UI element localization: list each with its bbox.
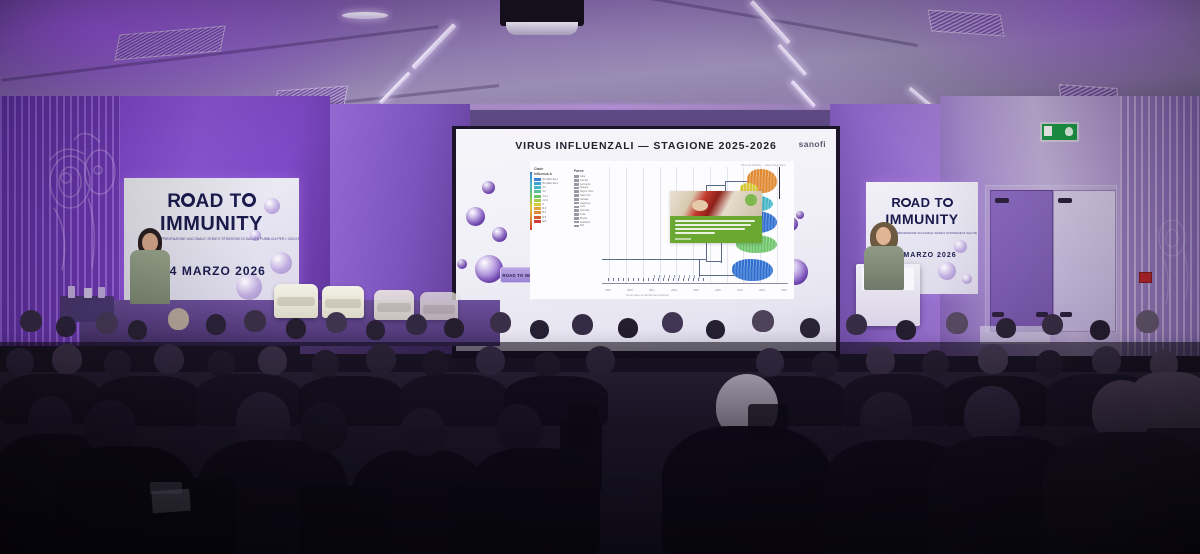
tree-branch xyxy=(725,181,747,182)
news-card-text-line xyxy=(675,228,745,230)
sanofi-logo: sanofi xyxy=(799,139,826,149)
audience-head xyxy=(490,312,511,333)
chart-gridline xyxy=(626,167,627,283)
legend-item: J.2.1 xyxy=(534,194,560,197)
clade-cluster-J1 xyxy=(732,259,773,281)
legend2-item: Spagna xyxy=(574,186,596,189)
legend-label: J.1 xyxy=(542,186,545,189)
audience-head xyxy=(530,320,549,339)
audience-head xyxy=(56,316,76,337)
audience-head xyxy=(366,344,396,374)
audience-head xyxy=(244,310,266,332)
audience-head xyxy=(128,320,147,340)
audience-head xyxy=(812,352,838,378)
legend-swatch xyxy=(534,203,541,206)
audience-head xyxy=(800,318,820,338)
legend-label: J.2.2 xyxy=(542,199,548,202)
tree-branch xyxy=(706,261,721,262)
right-wall-relief-artwork xyxy=(1150,200,1198,310)
audience-head xyxy=(406,314,427,335)
legend2-label: Canada xyxy=(580,198,588,201)
audience-head xyxy=(866,346,895,375)
ring-o-icon xyxy=(901,198,911,208)
audience-head xyxy=(1136,310,1159,333)
legend2-title: Paese xyxy=(574,169,596,174)
audience-head xyxy=(922,350,949,377)
tree-tip-dots xyxy=(654,275,702,278)
audience-head xyxy=(846,314,867,335)
legend-swatch xyxy=(534,211,541,214)
audience-head xyxy=(6,348,34,376)
chart-legend-countries: Paese Italia Francia Germania Spagna Reg… xyxy=(574,169,596,228)
tree-branch xyxy=(706,185,725,186)
news-card-body xyxy=(670,216,762,243)
audience-head xyxy=(206,314,226,335)
clade-marker-bar xyxy=(779,167,781,199)
news-card-text-line xyxy=(675,220,755,222)
legend-label: D.5 xyxy=(542,216,546,219)
legend2-item: Brasile xyxy=(574,217,596,220)
tree-branch-root xyxy=(602,259,706,260)
legend-item: D.5 xyxy=(534,215,560,218)
legend-label: J.2 xyxy=(542,190,545,193)
speaker-head xyxy=(876,227,891,245)
audience-head xyxy=(996,318,1016,338)
legend2-label: Stati Uniti xyxy=(580,194,590,197)
legend2-item: Sudafrica xyxy=(574,220,596,223)
legend-label: K xyxy=(542,203,544,206)
x-tick-label: 2017 xyxy=(649,289,655,292)
audience-head xyxy=(208,350,235,377)
legend2-swatch xyxy=(574,183,579,186)
legend-item: K xyxy=(534,203,560,206)
legend2-swatch xyxy=(574,202,579,205)
news-card-text-line xyxy=(675,232,715,234)
legend2-label: Cina xyxy=(580,205,585,208)
legend-swatch xyxy=(534,207,541,210)
legend2-swatch xyxy=(574,209,579,212)
x-tick-label: 2021 xyxy=(737,289,743,292)
audience-head xyxy=(978,344,1008,374)
water-bottle xyxy=(98,287,105,298)
audience-head xyxy=(422,350,449,377)
x-tick-label: 2020 xyxy=(715,289,721,292)
legend-label: D.4 xyxy=(542,211,546,214)
audience-head xyxy=(1042,314,1063,335)
news-card-text-line xyxy=(675,224,751,226)
speaker-body xyxy=(130,250,170,304)
x-tick-label: 2019 xyxy=(693,289,699,292)
seat-back xyxy=(452,484,544,554)
podium-speaker xyxy=(862,222,906,286)
audience-head xyxy=(312,350,339,378)
tree-branch xyxy=(699,259,700,275)
legend-swatch xyxy=(534,220,541,223)
audience-head xyxy=(896,320,916,340)
chart-x-axis-caption: Tempo (anno di raccolta del campione) xyxy=(626,294,669,297)
legend2-swatch xyxy=(574,198,579,201)
legend2-swatch xyxy=(574,190,579,193)
legend-label: D.3 xyxy=(542,207,546,210)
audience-head xyxy=(706,320,725,339)
legend-swatch xyxy=(534,216,541,219)
legend2-swatch xyxy=(574,187,579,190)
banner-bubble xyxy=(962,274,972,284)
legend2-swatch xyxy=(574,179,579,182)
audience-head xyxy=(534,352,560,378)
x-tick-label: 2018 xyxy=(671,289,677,292)
decorative-sphere xyxy=(475,255,503,283)
legend2-item: Altri xyxy=(574,224,596,227)
audience-head xyxy=(662,312,683,333)
audience-silhouette xyxy=(662,426,832,554)
audience-head xyxy=(476,346,505,375)
legend2-label: Italia xyxy=(580,175,585,178)
legend2-item: Germania xyxy=(574,183,596,186)
audience-head xyxy=(946,312,968,334)
legend2-item: Francia xyxy=(574,179,596,182)
x-tick-label: 2022 xyxy=(759,289,765,292)
legend-item: J.1 xyxy=(534,186,560,189)
legend2-label: Brasile xyxy=(580,217,587,220)
slide-title: VIRUS INFLUENZALI — STAGIONE 2025-2026 xyxy=(456,140,836,152)
legend-label: altri xyxy=(542,220,546,223)
legend2-item: Giappone xyxy=(574,202,596,205)
ring-o-icon xyxy=(943,198,953,208)
x-tick-label: 2015 xyxy=(605,289,611,292)
legend-swatch xyxy=(534,186,541,189)
legend2-swatch xyxy=(574,213,579,216)
photo-person xyxy=(692,200,708,211)
legend2-label: India xyxy=(580,213,585,216)
chart-gridline xyxy=(660,167,661,283)
x-tick-label: 2016 xyxy=(627,289,633,292)
banner-left-title-text: R xyxy=(167,191,181,212)
legend-swatch xyxy=(534,199,541,202)
audience-head xyxy=(96,312,118,334)
legend2-swatch xyxy=(574,217,579,220)
legend2-swatch xyxy=(574,221,579,224)
legend-item: 3C.2a1b.2a.2 xyxy=(534,182,560,185)
decorative-sphere xyxy=(482,181,495,194)
emergency-exit-icon xyxy=(1040,122,1079,142)
chart-gridline xyxy=(643,167,644,283)
seat-back xyxy=(748,404,788,444)
legend2-label: Francia xyxy=(580,179,588,182)
phylogenetic-tree-chart: Influenza A/H3N2 — albero filogenetico C… xyxy=(530,161,794,299)
legend-swatch xyxy=(534,190,541,193)
legend2-item: Italia xyxy=(574,175,596,178)
ring-o-icon xyxy=(181,193,195,207)
audience-head xyxy=(618,318,638,338)
news-card xyxy=(670,191,762,243)
audience-head xyxy=(286,318,306,339)
audience-head xyxy=(444,318,464,338)
decorative-sphere xyxy=(466,207,485,226)
water-bottle xyxy=(68,286,75,298)
legend2-label: Germania xyxy=(580,183,591,186)
legend2-label: Spagna xyxy=(580,186,588,189)
audience-head-front xyxy=(400,408,446,456)
legend2-item: Canada xyxy=(574,198,596,201)
banner-right-title-line1: RAD T xyxy=(866,196,978,209)
legend2-item: Australia xyxy=(574,209,596,212)
chart-x-axis xyxy=(602,283,788,284)
audience-head xyxy=(258,346,287,375)
speaker-body xyxy=(864,246,904,290)
legend-title: CladeInfluenza A xyxy=(534,167,560,176)
audience-head xyxy=(104,350,131,377)
legend2-swatch xyxy=(574,194,579,197)
seat-back xyxy=(300,486,390,554)
legend2-item: India xyxy=(574,213,596,216)
decorative-sphere xyxy=(457,259,467,269)
banner-right-title-text: R xyxy=(891,195,901,210)
legend-color-bar xyxy=(530,172,532,230)
banner-left-title-text2: AD T xyxy=(195,191,241,212)
chart-legend-clades: CladeInfluenza A 3C.2a1b.2a.1 3C.2a1b.2a… xyxy=(534,167,560,224)
audience-head xyxy=(1092,346,1121,375)
handout-paper xyxy=(150,482,182,494)
seat-back xyxy=(568,404,598,448)
door-push-bar[interactable] xyxy=(995,198,1009,203)
audience-head xyxy=(326,312,347,333)
audience-head xyxy=(572,314,593,335)
ring-o-icon xyxy=(242,193,256,207)
ceiling-projector xyxy=(500,0,584,26)
legend2-label: Giappone xyxy=(580,202,590,205)
audience-head xyxy=(1090,320,1110,340)
legend2-label: Regno Unito xyxy=(580,190,593,193)
legend-label: 3C.2a1b.2a.2 xyxy=(542,182,558,185)
legend-item: D.4 xyxy=(534,211,560,214)
ceiling-round-light xyxy=(342,12,388,19)
banner-left-title-line1: RAD T xyxy=(124,192,299,211)
seated-speaker-left xyxy=(126,228,172,304)
audience-head xyxy=(366,320,385,340)
conference-hall-photo: RAD T IMMUNITY LA PREVENZIONE VACCINALE:… xyxy=(0,0,1200,554)
decorative-sphere xyxy=(492,227,507,242)
legend-label: 3C.2a1b.2a.1 xyxy=(542,178,558,181)
legend2-item: Cina xyxy=(574,205,596,208)
glass xyxy=(84,288,92,298)
legend2-swatch xyxy=(574,225,579,228)
legend-swatch xyxy=(534,178,541,181)
legend-item: J.2.2 xyxy=(534,199,560,202)
legend2-item: Stati Uniti xyxy=(574,194,596,197)
news-card-logo-icon xyxy=(745,194,757,206)
audience-head-front xyxy=(496,404,542,452)
legend-label: J.2.1 xyxy=(542,195,548,198)
legend2-label: Australia xyxy=(580,209,589,212)
legend-swatch xyxy=(534,182,541,185)
audience-head xyxy=(52,344,82,374)
legend-item: J.2 xyxy=(534,190,560,193)
chart-gridline xyxy=(777,167,778,283)
news-card-source xyxy=(675,238,691,240)
legend-item: D.3 xyxy=(534,207,560,210)
tree-tip-dots xyxy=(608,278,708,281)
audience-silhouette xyxy=(1042,432,1200,554)
x-tick-label: 2023 xyxy=(781,289,787,292)
fire-alarm-icon[interactable] xyxy=(1139,272,1152,283)
audience-head xyxy=(168,308,189,330)
legend2-label: Sudafrica xyxy=(580,221,590,224)
legend2-swatch xyxy=(574,175,579,178)
audience-head xyxy=(1036,350,1063,377)
news-card-photo xyxy=(670,191,762,216)
audience-head xyxy=(154,344,184,374)
audience-area xyxy=(0,300,1200,554)
chart-gridline xyxy=(609,167,610,283)
audience-head xyxy=(586,346,615,375)
legend-item: altri xyxy=(534,220,560,223)
legend2-item: Regno Unito xyxy=(574,190,596,193)
decorative-sphere xyxy=(796,211,804,219)
legend2-swatch xyxy=(574,206,579,209)
audience-head xyxy=(752,310,774,332)
audience-head xyxy=(20,310,42,332)
banner-right-title-text2: AD T xyxy=(911,195,943,210)
audience-head xyxy=(756,348,784,376)
audience-head-front xyxy=(860,392,912,446)
audience-head-front xyxy=(300,402,348,452)
legend-swatch xyxy=(534,195,541,198)
banner-bubble xyxy=(938,262,956,280)
legend-item: 3C.2a1b.2a.1 xyxy=(534,178,560,181)
door-push-bar[interactable] xyxy=(1058,198,1072,203)
legend2-label: Altri xyxy=(580,224,584,227)
